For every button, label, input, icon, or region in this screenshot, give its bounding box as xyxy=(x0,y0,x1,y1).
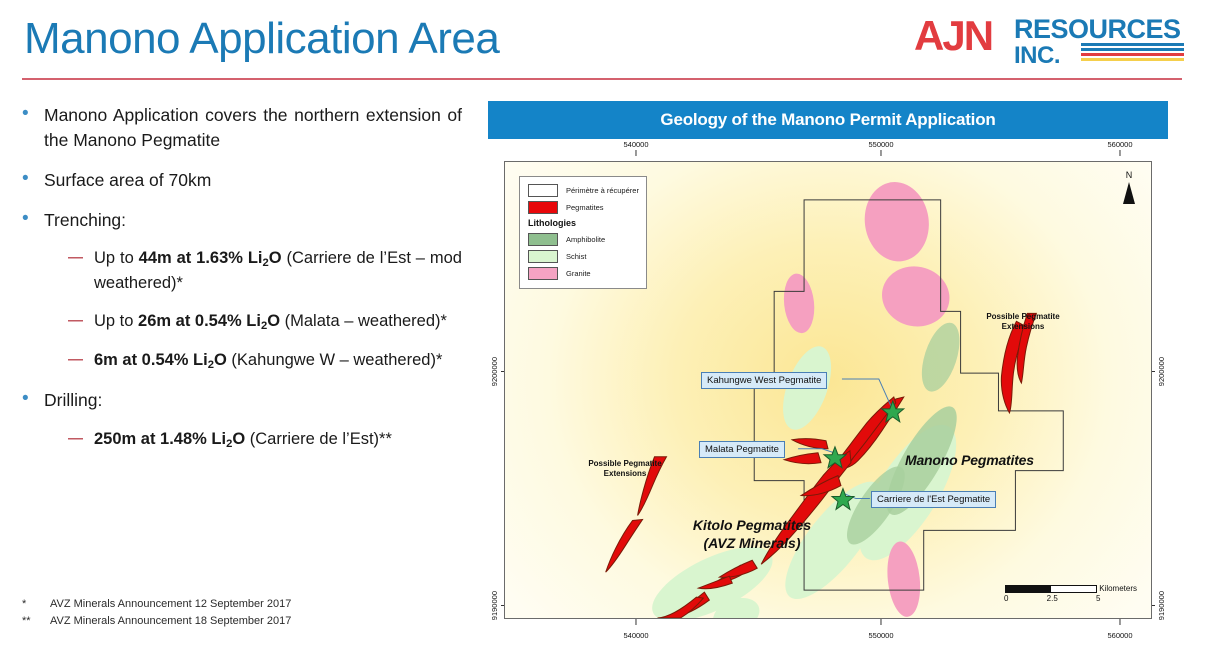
sub-bullet-2-suffix: (Malata – weathered)* xyxy=(280,312,447,330)
scalebar-segment-empty xyxy=(1051,585,1097,593)
logo-stripe-blue-2 xyxy=(1081,48,1184,51)
map-canvas[interactable]: Périmètre à récupérer Pegmatites Litholo… xyxy=(504,161,1152,619)
x-tick-bottom-560000-label: 560000 xyxy=(1107,631,1132,640)
x-tick-top-550000-label: 550000 xyxy=(868,140,893,149)
footnote-2-text: AVZ Minerals Announcement 18 September 2… xyxy=(50,613,291,630)
north-arrow-label: N xyxy=(1123,170,1135,180)
sub-bullet-3-value-a: 6m at 0.54% Li xyxy=(94,351,208,369)
map-label-ne-line2: Extensions xyxy=(975,322,1071,332)
sub-bullet-trench-3: 6m at 0.54% Li2O (Kahungwe W – weathered… xyxy=(68,349,462,374)
legend-item-pegmatites: Pegmatites xyxy=(528,201,638,214)
x-tick-top-540000: 540000 xyxy=(623,140,648,156)
title-divider xyxy=(22,78,1182,80)
legend-swatch-amphibolite xyxy=(528,233,558,246)
callout-malata-pegmatite[interactable]: Malata Pegmatite xyxy=(699,441,785,458)
footnote-1-text: AVZ Minerals Announcement 12 September 2… xyxy=(50,596,291,613)
legend-section-lithologies: Lithologies xyxy=(528,218,638,228)
x-tick-bottom-540000: 540000 xyxy=(623,619,648,640)
sub-bullet-4-suffix: (Carriere de l’Est)** xyxy=(245,430,392,448)
callout-carriere-de-lest-pegmatite[interactable]: Carriere de l'Est Pegmatite xyxy=(871,491,996,508)
map-axis-top: 540000 550000 560000 xyxy=(488,139,1168,161)
x-tick-bottom-540000-mark xyxy=(636,619,637,625)
bullet-text-1: Manono Application covers the northern e… xyxy=(44,105,462,150)
legend-item-granite: Granite xyxy=(528,267,638,280)
map-label-possible-extensions-ne: Possible Pegmatite Extensions xyxy=(975,312,1071,332)
bullet-item-2: Surface area of 70km xyxy=(18,168,462,193)
sub-bullet-1-prefix: Up to xyxy=(94,249,139,267)
legend-swatch-granite xyxy=(528,267,558,280)
y-tick-left-9190000-label: 9190000 xyxy=(490,591,499,620)
scalebar-unit-label: Kilometers xyxy=(1099,584,1137,593)
logo-inc-text: INC. xyxy=(1014,42,1060,70)
bullet-text-4: Drilling: xyxy=(44,390,102,410)
sub-bullet-2-value-a: 26m at 0.54% Li xyxy=(138,312,261,330)
sub-bullet-1-value-b: O xyxy=(269,249,282,267)
map-label-sw-line2: Extensions xyxy=(577,469,673,479)
legend-label-amphibolite: Amphibolite xyxy=(566,235,605,244)
sub-bullet-4-value: 250m at 1.48% Li2O xyxy=(94,430,245,448)
logo-stripe-red xyxy=(1081,53,1184,56)
y-tick-right-9200000-label: 9200000 xyxy=(1157,357,1166,386)
map-label-ne-line1: Possible Pegmatite xyxy=(975,312,1071,322)
sub-bullet-drill-1: 250m at 1.48% Li2O (Carriere de l’Est)** xyxy=(68,428,462,453)
scalebar-segment-filled xyxy=(1005,585,1051,593)
logo-stripe-blue xyxy=(1081,43,1184,46)
page-title: Manono Application Area xyxy=(24,14,499,64)
map-label-manono-pegmatites: Manono Pegmatites xyxy=(905,452,1095,470)
legend-label-granite: Granite xyxy=(566,269,591,278)
map-legend: Périmètre à récupérer Pegmatites Litholo… xyxy=(519,176,647,289)
map-label-possible-extensions-sw: Possible Pegmatite Extensions xyxy=(577,459,673,479)
logo-stripes xyxy=(1081,43,1184,63)
callout-kahungwe-west-pegmatite[interactable]: Kahungwe West Pegmatite xyxy=(701,372,827,389)
map-label-kitolo-line2: (AVZ Minerals) xyxy=(657,535,847,553)
sub-bullet-2-value-b: O xyxy=(267,312,280,330)
legend-item-perimetre: Périmètre à récupérer xyxy=(528,184,638,197)
y-tick-right-9190000-label: 9190000 xyxy=(1157,591,1166,620)
x-tick-top-560000-mark xyxy=(1120,150,1121,156)
scalebar-bars: Kilometers xyxy=(1005,584,1137,593)
footnote-2-mark: ** xyxy=(22,613,50,630)
north-arrow-glyph xyxy=(1123,182,1135,204)
x-tick-top-550000-mark xyxy=(881,150,882,156)
x-tick-bottom-560000: 560000 xyxy=(1107,619,1132,640)
x-tick-top-560000-label: 560000 xyxy=(1107,140,1132,149)
sub-bullet-trench-1: Up to 44m at 1.63% Li2O (Carriere de l’E… xyxy=(68,247,462,295)
scalebar-tick-5: 5 xyxy=(1096,594,1100,603)
bullet-item-4: Drilling: xyxy=(18,388,462,413)
legend-label-schist: Schist xyxy=(566,252,586,261)
x-tick-top-540000-mark xyxy=(636,150,637,156)
map-scalebar: Kilometers 0 2.5 5 xyxy=(1005,584,1137,604)
bullet-item-3: Trenching: xyxy=(18,208,462,233)
map-panel: Geology of the Manono Permit Application… xyxy=(488,101,1168,641)
sub-bullet-4-value-b: O xyxy=(232,430,245,448)
logo-resources-text: RESOURCES xyxy=(1014,14,1181,45)
bullet-text-2: Surface area of 70km xyxy=(44,170,211,190)
logo-brand-text: AJN xyxy=(914,12,992,60)
sub-bullet-trench-2: Up to 26m at 0.54% Li2O (Malata – weathe… xyxy=(68,310,462,335)
sub-bullet-2-prefix: Up to xyxy=(94,312,138,330)
footnote-1: * AVZ Minerals Announcement 12 September… xyxy=(22,596,291,613)
x-tick-bottom-550000-mark xyxy=(881,619,882,625)
logo-stripe-yellow xyxy=(1081,58,1184,61)
x-tick-bottom-550000: 550000 xyxy=(868,619,893,640)
map-label-sw-line1: Possible Pegmatite xyxy=(577,459,673,469)
scalebar-ticks: 0 2.5 5 xyxy=(1005,593,1097,604)
sub-bullet-2-value: 26m at 0.54% Li2O xyxy=(138,312,280,330)
legend-swatch-pegmatites xyxy=(528,201,558,214)
sub-bullet-3-value-b: O xyxy=(214,351,227,369)
sub-bullet-3-value: 6m at 0.54% Li2O xyxy=(94,351,227,369)
map-body: 9200000 9190000 9200000 9190000 xyxy=(488,161,1168,619)
company-logo: AJN RESOURCES INC. xyxy=(914,10,1184,70)
scalebar-tick-0: 0 xyxy=(1004,594,1008,603)
map-label-kitolo-line1: Kitolo Pegmatites xyxy=(657,517,847,535)
x-tick-top-560000: 560000 xyxy=(1107,140,1132,156)
map-label-kitolo-pegmatites: Kitolo Pegmatites (AVZ Minerals) xyxy=(657,517,847,552)
x-tick-bottom-540000-label: 540000 xyxy=(623,631,648,640)
legend-label-pegmatites: Pegmatites xyxy=(566,203,604,212)
map-title-bar: Geology of the Manono Permit Application xyxy=(488,101,1168,139)
scalebar-tick-2-5: 2.5 xyxy=(1047,594,1058,603)
sub-bullet-1-value-a: 44m at 1.63% Li xyxy=(139,249,263,267)
bullet-content: Manono Application covers the northern e… xyxy=(18,103,462,467)
map-axis-bottom: 540000 550000 560000 xyxy=(488,619,1168,641)
bullet-text-3: Trenching: xyxy=(44,210,126,230)
legend-label-perimetre: Périmètre à récupérer xyxy=(566,186,639,195)
legend-item-schist: Schist xyxy=(528,250,638,263)
sub-bullet-4-value-a: 250m at 1.48% Li xyxy=(94,430,226,448)
footnotes: * AVZ Minerals Announcement 12 September… xyxy=(22,596,291,630)
x-tick-top-540000-label: 540000 xyxy=(623,140,648,149)
slide-root: Manono Application Area AJN RESOURCES IN… xyxy=(0,0,1206,657)
footnote-2: ** AVZ Minerals Announcement 18 Septembe… xyxy=(22,613,291,630)
x-tick-bottom-550000-label: 550000 xyxy=(868,631,893,640)
legend-swatch-perimetre xyxy=(528,184,558,197)
bullet-item-1: Manono Application covers the northern e… xyxy=(18,103,462,153)
y-tick-left-9200000-label: 9200000 xyxy=(490,357,499,386)
legend-swatch-schist xyxy=(528,250,558,263)
footnote-1-mark: * xyxy=(22,596,50,613)
x-tick-top-550000: 550000 xyxy=(868,140,893,156)
sub-bullet-1-value: 44m at 1.63% Li2O xyxy=(139,249,282,267)
legend-item-amphibolite: Amphibolite xyxy=(528,233,638,246)
north-arrow-icon: N xyxy=(1123,170,1135,204)
sub-bullet-3-suffix: (Kahungwe W – weathered)* xyxy=(227,351,443,369)
x-tick-bottom-560000-mark xyxy=(1120,619,1121,625)
